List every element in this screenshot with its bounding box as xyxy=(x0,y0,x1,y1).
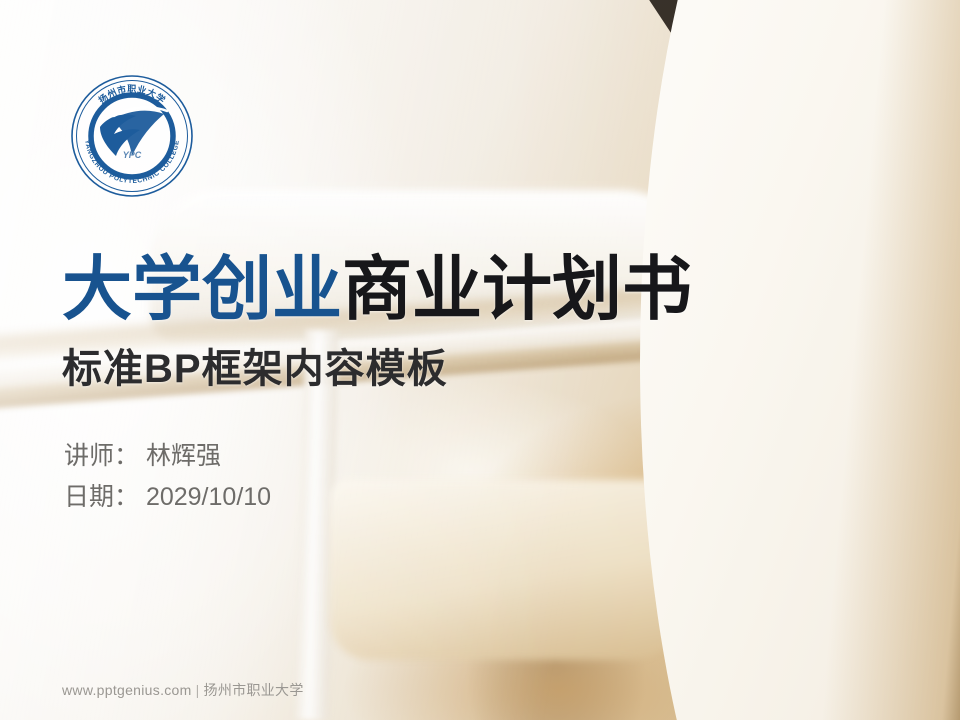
page-subtitle: 标准BP框架内容模板 xyxy=(62,336,762,394)
title-rest: 商业计划书 xyxy=(342,250,692,328)
presenter-line: 讲师： 林辉强 xyxy=(64,436,271,477)
footer-separator: | xyxy=(192,682,204,698)
title-slide: 扬州市职业大学 YANGZHOU POLYTECHNIC COLLEGE YPC… xyxy=(0,0,960,720)
footer-org: 扬州市职业大学 xyxy=(204,682,304,698)
title-block: 大学创业商业计划书 标准BP框架内容模板 xyxy=(62,252,762,394)
logo-monogram: YPC xyxy=(123,150,142,160)
page-title: 大学创业商业计划书 xyxy=(62,252,762,326)
date-line: 日期： 2029/10/10 xyxy=(64,477,271,518)
footer: www.pptgenius.com|扬州市职业大学 xyxy=(62,680,304,700)
college-logo: 扬州市职业大学 YANGZHOU POLYTECHNIC COLLEGE YPC xyxy=(68,72,196,200)
footer-site[interactable]: www.pptgenius.com xyxy=(62,682,192,698)
presenter-meta: 讲师： 林辉强 日期： 2029/10/10 xyxy=(64,436,271,519)
title-highlight: 大学创业 xyxy=(62,250,342,328)
